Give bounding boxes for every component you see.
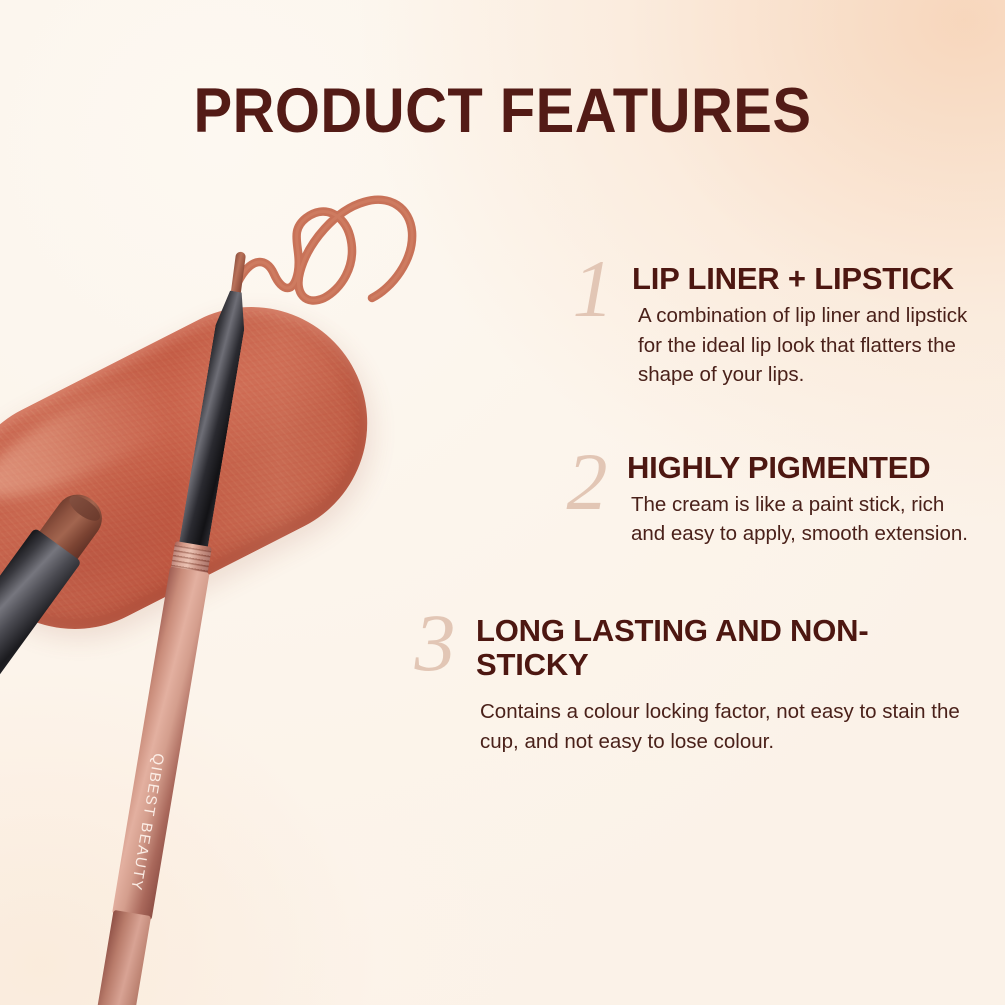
- feature-description-3: Contains a colour locking factor, not ea…: [480, 697, 980, 755]
- page-title: PRODUCT FEATURES: [40, 80, 965, 143]
- feature-body-1: LIP LINER + LIPSTICK A combination of li…: [632, 262, 980, 389]
- poster-content: PRODUCT FEATURES 1 LIP LINER + LIPSTICK …: [0, 0, 1005, 1005]
- feature-heading-3: LONG LASTING AND NON-STICKY: [476, 614, 980, 681]
- features-list: 1 LIP LINER + LIPSTICK A combination of …: [380, 262, 980, 780]
- feature-description-1: A combination of lip liner and lipstick …: [638, 301, 980, 388]
- product-features-poster: QIBEST BEAUTY PRODUCT FEATURES 1 LIP LIN…: [0, 0, 1005, 1005]
- feature-item-1: 1 LIP LINER + LIPSTICK A combination of …: [472, 262, 980, 389]
- feature-heading-2: HIGHLY PIGMENTED: [627, 451, 980, 484]
- feature-description-2: The cream is like a paint stick, rich an…: [631, 490, 980, 548]
- feature-number-1: 1: [556, 248, 630, 330]
- feature-body-3: LONG LASTING AND NON-STICKY Contains a c…: [476, 614, 980, 755]
- feature-number-3: 3: [398, 602, 472, 684]
- feature-item-3: 3 LONG LASTING AND NON-STICKY Contains a…: [394, 614, 980, 755]
- feature-number-2: 2: [550, 441, 624, 523]
- feature-heading-1: LIP LINER + LIPSTICK: [632, 262, 980, 295]
- feature-item-2: 2 HIGHLY PIGMENTED The cream is like a p…: [472, 451, 980, 549]
- feature-body-2: HIGHLY PIGMENTED The cream is like a pai…: [627, 451, 980, 549]
